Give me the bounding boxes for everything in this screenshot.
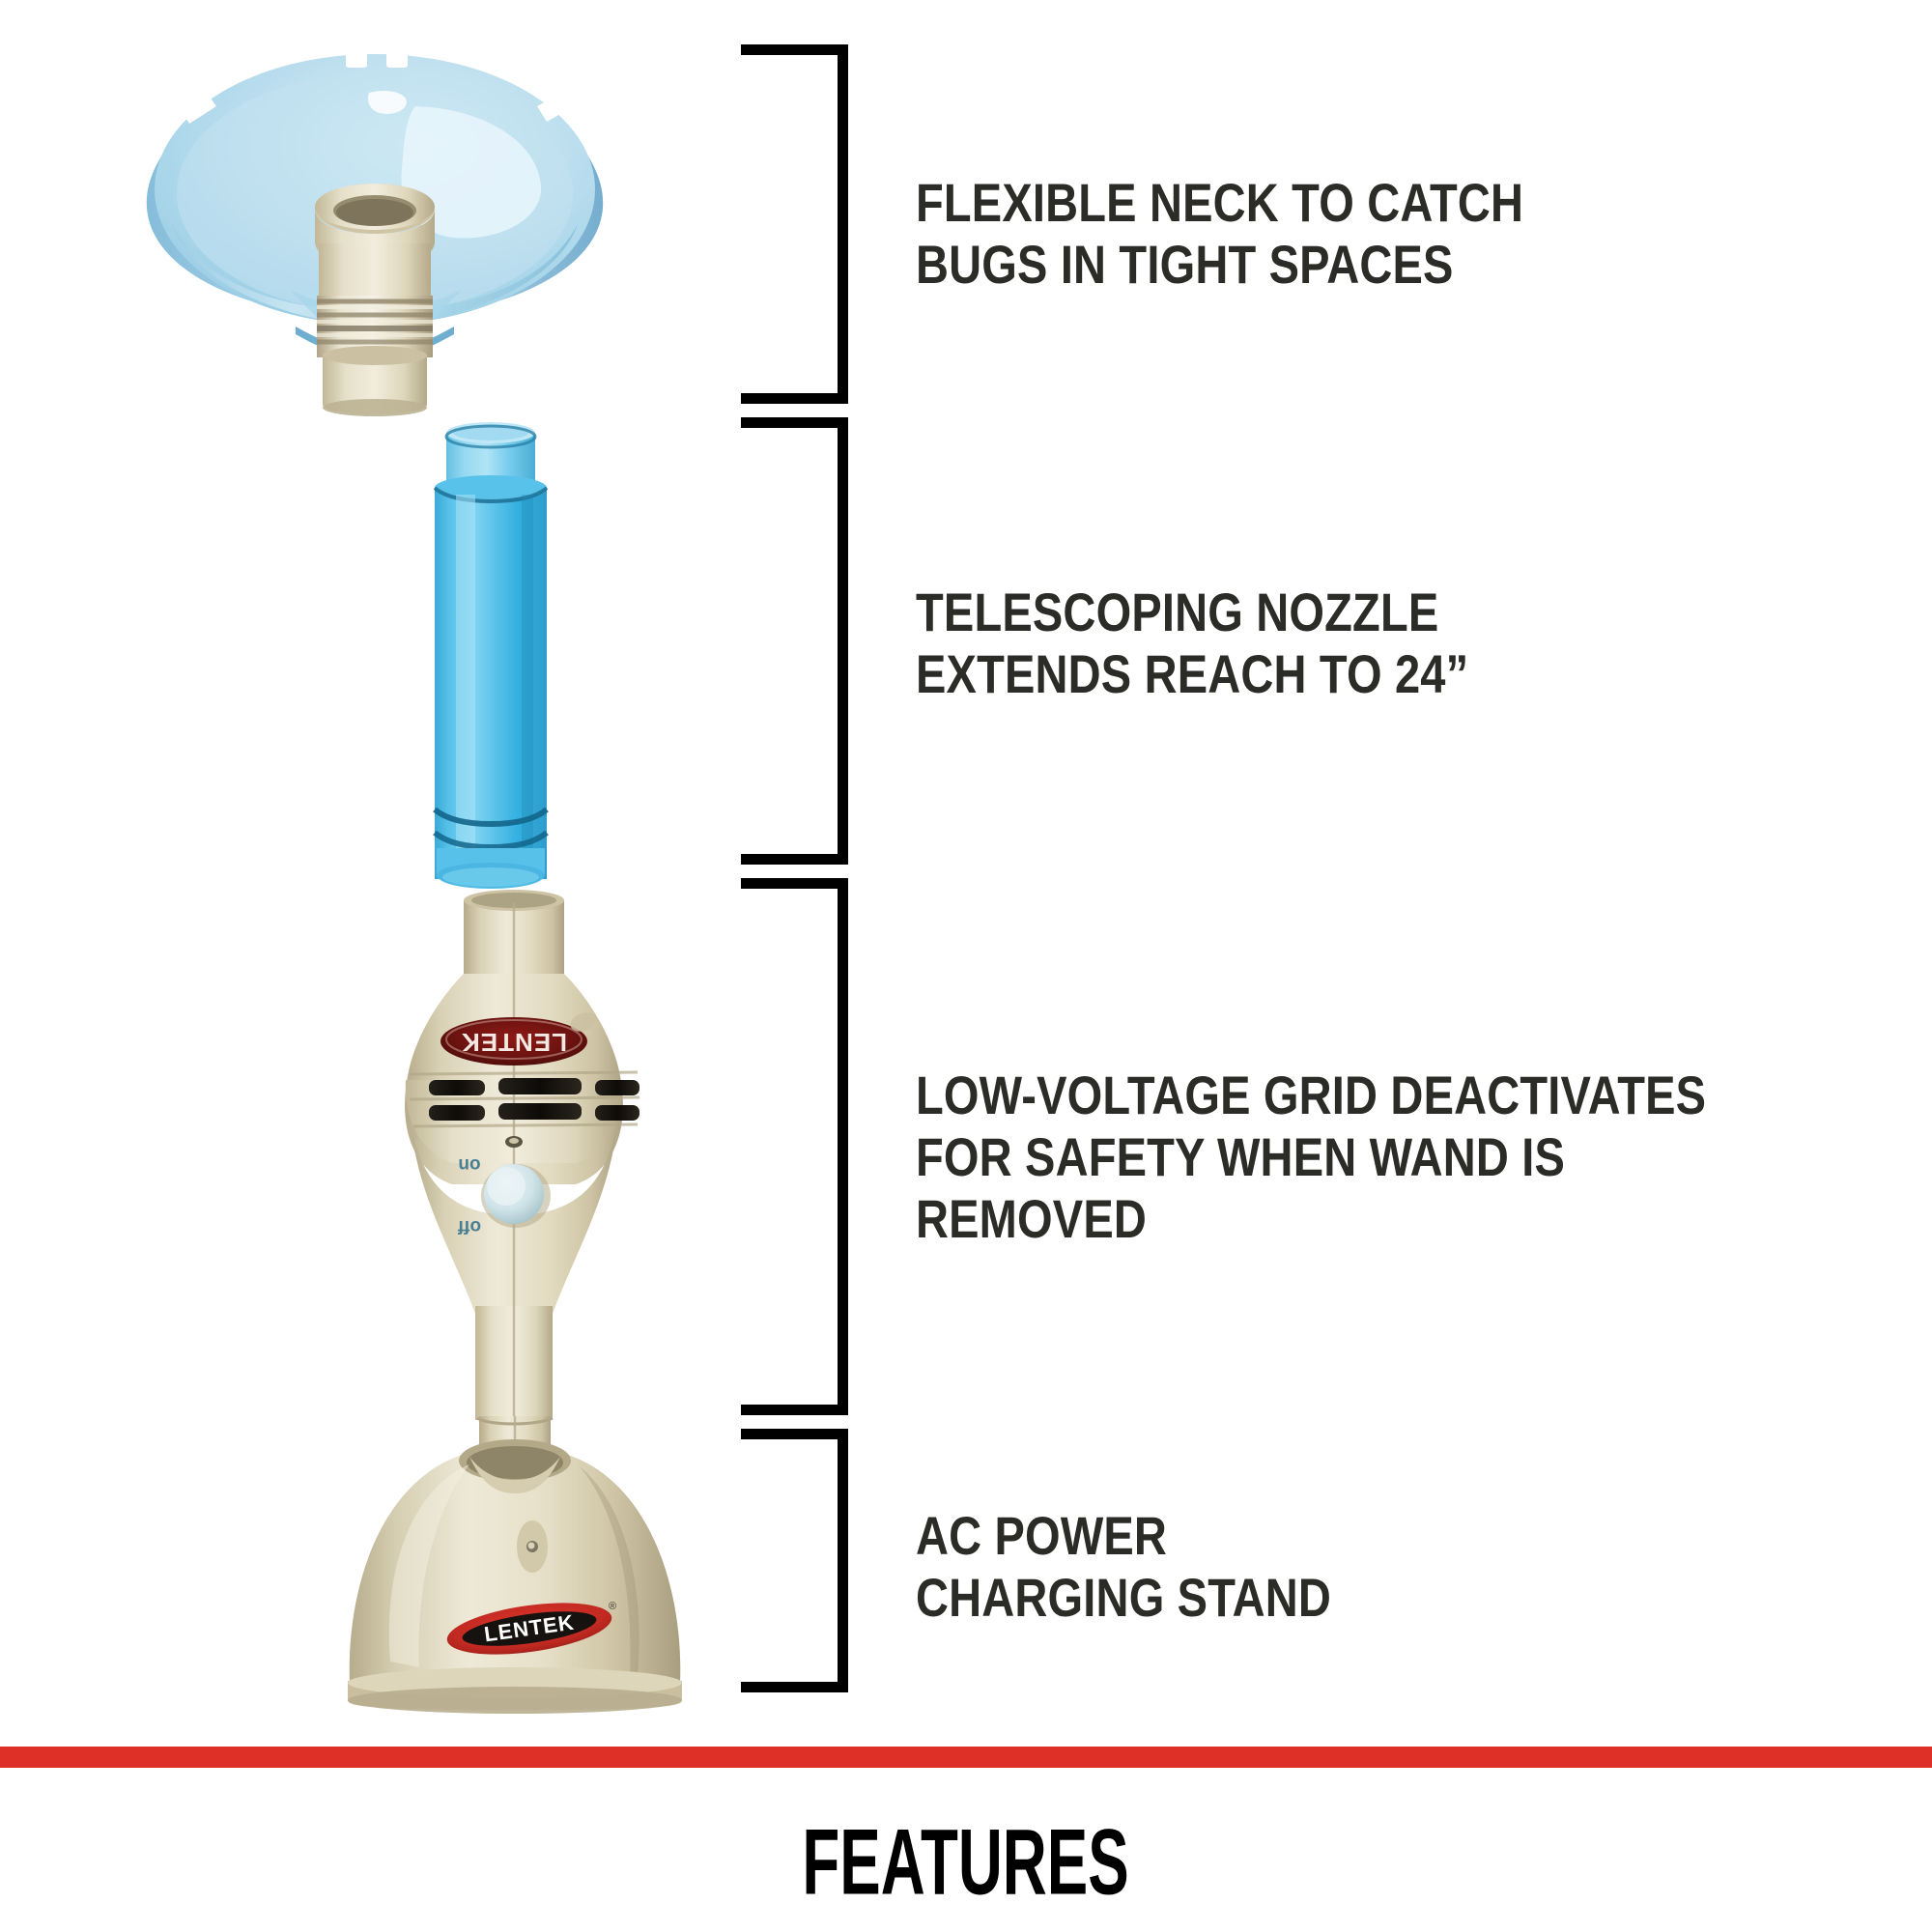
svg-text:®: ® — [609, 1601, 616, 1612]
bracket-ac-power-charging-stand — [741, 1429, 848, 1692]
features-heading-text: FEATURES — [803, 1816, 1129, 1909]
bracket-arm-top — [741, 417, 848, 428]
bracket-flexible-neck — [741, 44, 848, 404]
bracket-arm-top — [741, 44, 848, 55]
bracket-vertical — [838, 1429, 848, 1692]
svg-text:on: on — [458, 1154, 480, 1175]
bracket-arm-bottom — [741, 854, 848, 865]
brand-badge-handle: LENTEK — [440, 1017, 587, 1065]
infographic-page: LENTEK — [0, 0, 1932, 1932]
features-heading: FEATURES — [0, 1816, 1932, 1899]
callout-low-voltage-grid: LOW-VOLTAGE GRID DEACTIVATES FOR SAFETY … — [916, 1065, 1770, 1249]
callout-ac-power-charging-stand: AC POWER CHARGING STAND — [916, 1505, 1331, 1629]
bracket-arm-top — [741, 878, 848, 889]
bracket-vertical — [838, 44, 848, 404]
bracket-arm-bottom — [741, 1682, 848, 1692]
bracket-vertical — [838, 878, 848, 1415]
bracket-arm-bottom — [741, 1405, 848, 1415]
product-part-telescoping-tube — [435, 422, 547, 889]
callout-telescoping-nozzle: TELESCOPING NOZZLE EXTENDS REACH TO 24” — [916, 582, 1468, 705]
svg-text:off: off — [457, 1216, 481, 1236]
bracket-arm-bottom — [741, 393, 848, 404]
product-part-flex-neck — [317, 243, 433, 416]
product-part-handle-body: LENTEK — [405, 890, 639, 1484]
bracket-telescoping-nozzle — [741, 417, 848, 865]
bracket-arm-top — [741, 1429, 848, 1439]
red-divider-rule — [0, 1747, 1932, 1768]
svg-text:LENTEK: LENTEK — [461, 1028, 567, 1057]
callout-flexible-neck: FLEXIBLE NECK TO CATCH BUGS IN TIGHT SPA… — [916, 172, 1523, 296]
bracket-low-voltage-grid — [741, 878, 848, 1415]
bracket-vertical — [838, 417, 848, 865]
product-illustration: LENTEK — [0, 0, 734, 1739]
product-part-charging-base: LENTEK ® — [348, 1439, 682, 1714]
